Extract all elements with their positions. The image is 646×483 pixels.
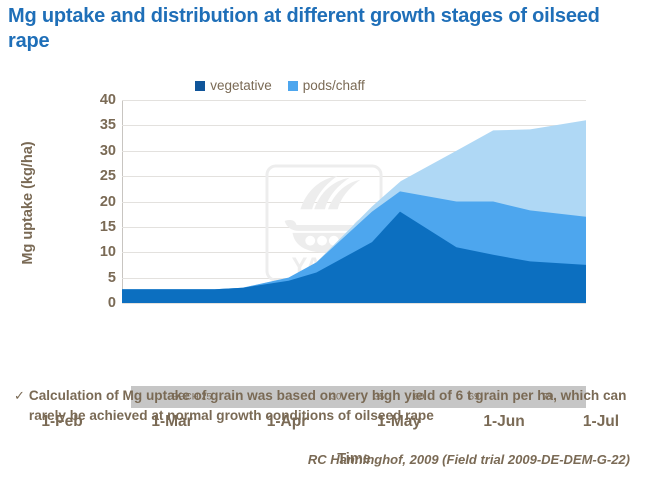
- legend-swatch-icon: [288, 81, 298, 91]
- y-axis-tick-labels: 40 35 30 25 20 15 10 5 0: [20, 95, 116, 303]
- legend-item-vegetative[interactable]: vegetative: [195, 78, 272, 93]
- legend-swatch-icon: [195, 81, 205, 91]
- y-axis-tick: 0: [20, 295, 116, 311]
- y-axis-tick: 5: [20, 270, 116, 286]
- y-axis-tick: 15: [20, 219, 116, 235]
- footer-citation: RC Hanninghof, 2009 (Field trial 2009-DE…: [0, 452, 630, 467]
- plot-area: YARA: [122, 100, 586, 303]
- y-axis-tick: 40: [20, 92, 116, 108]
- legend-label: pods/chaff: [303, 78, 365, 93]
- area-chart: Mg uptake (kg/ha) 40 35 30 25 20 15 10 5…: [0, 95, 646, 355]
- chart-legend: vegetative pods/chaff: [0, 78, 560, 93]
- y-axis-tick: 10: [20, 244, 116, 260]
- stacked-area-series: [122, 100, 586, 303]
- note-callout: ✓ Calculation of Mg uptake of grain was …: [14, 386, 636, 425]
- check-icon: ✓: [14, 386, 25, 405]
- y-axis-tick: 20: [20, 194, 116, 210]
- y-axis-tick: 25: [20, 168, 116, 184]
- y-axis-tick: 30: [20, 143, 116, 159]
- note-text: Calculation of Mg uptake of grain was ba…: [29, 386, 636, 425]
- y-axis-tick: 35: [20, 117, 116, 133]
- gridline: [122, 303, 586, 304]
- legend-label: vegetative: [210, 78, 272, 93]
- legend-item-pods-chaff[interactable]: pods/chaff: [288, 78, 365, 93]
- page-title: Mg uptake and distribution at different …: [8, 4, 628, 54]
